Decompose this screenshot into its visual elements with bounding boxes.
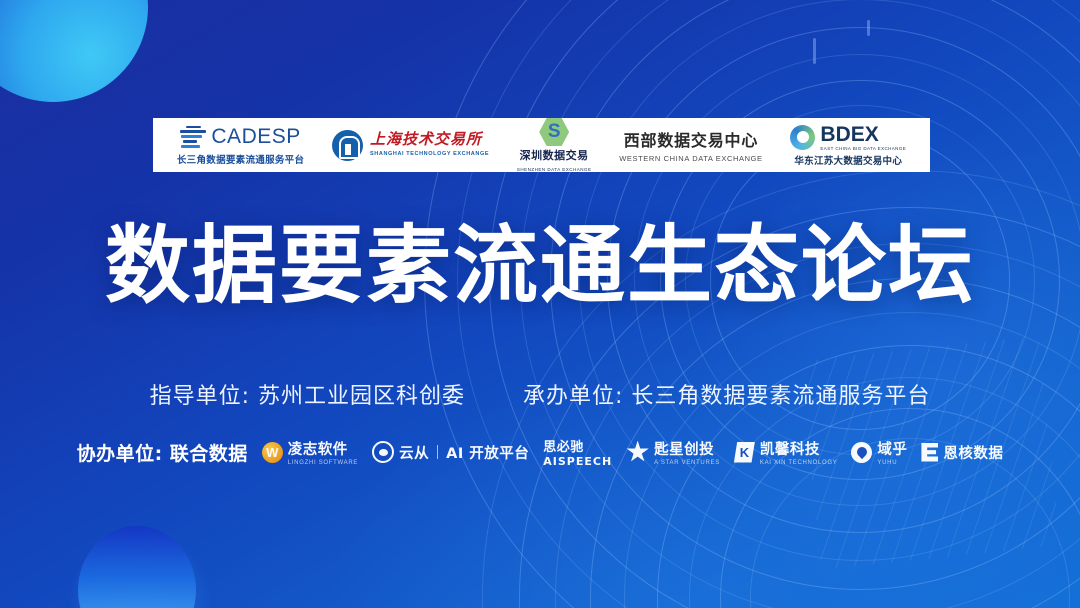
sponsor-yuhu: 域乎 YUHU xyxy=(851,438,907,466)
page-title: 数据要素流通生态论坛 xyxy=(0,224,1080,309)
astar-name: 匙星创投 xyxy=(654,438,714,459)
hosting-organization: 承办单位: 长三角数据要素流通服务平台 xyxy=(523,378,930,410)
cadesp-bars-icon xyxy=(180,126,206,148)
bdex-en-name: EAST CHINA BIG DATA EXCHANGE xyxy=(820,146,906,151)
shanghai-exchange-cn-name: 上海技术交易所 xyxy=(370,133,489,148)
cloudwalk-suffix: AI 开放平台 xyxy=(446,442,529,463)
sponsor-astar: 匙星创投 A STAR VENTURES xyxy=(626,438,720,466)
astar-en: A STAR VENTURES xyxy=(654,460,720,466)
shenzhen-hexagon-s-icon: S xyxy=(539,118,569,145)
logo-bdex: BDEX EAST CHINA BIG DATA EXCHANGE 华东江苏大数… xyxy=(790,118,906,172)
shenzhen-exchange-cn-name: 深圳数据交易 xyxy=(520,147,589,163)
aispeech-name: 思必驰 xyxy=(543,436,584,455)
accent-tick-b xyxy=(867,20,870,36)
bottom-left-circle-glow xyxy=(70,528,210,608)
star-icon xyxy=(626,441,649,464)
partner-logo-bar: CADESP 长三角数据要素流通服务平台 上海技术交易所 SHANGHAI TE… xyxy=(153,118,930,172)
top-left-gradient-circle xyxy=(0,0,148,102)
cloudwalk-name: 云从 xyxy=(399,442,429,463)
bdex-cn-name: 华东江苏大数据交易中心 xyxy=(794,153,902,167)
yuhu-name: 域乎 xyxy=(877,438,907,459)
enhe-e-icon xyxy=(921,443,938,462)
bottom-left-gradient-circle xyxy=(78,526,196,608)
cloudwalk-eye-icon xyxy=(372,441,394,463)
lingzhi-en: LINGZHI SOFTWARE xyxy=(288,460,358,466)
shanghai-exchange-en-name: SHANGHAI TECHNOLOGY EXCHANGE xyxy=(370,151,489,157)
kaixin-name: 凯馨科技 xyxy=(760,438,820,459)
cloudwalk-divider xyxy=(437,445,438,459)
guiding-organization: 指导单位: 苏州工业园区科创委 xyxy=(150,378,465,410)
western-exchange-en-name: WESTERN CHINA DATA EXCHANGE xyxy=(619,154,762,163)
bdex-swirl-icon xyxy=(790,125,815,150)
lingzhi-w-circle-icon: W xyxy=(262,442,283,463)
sponsor-lingzhi: W 凌志软件 LINGZHI SOFTWARE xyxy=(262,438,358,466)
right-glow xyxy=(680,120,1080,608)
co-organizer-label: 协办单位: 联合数据 xyxy=(77,439,248,466)
organizer-row: 指导单位: 苏州工业园区科创委 承办单位: 长三角数据要素流通服务平台 xyxy=(0,378,1080,410)
yuhu-drop-icon xyxy=(851,442,872,463)
sponsor-cloudwalk: 云从 AI 开放平台 xyxy=(372,441,529,463)
forum-poster: CADESP 长三角数据要素流通服务平台 上海技术交易所 SHANGHAI TE… xyxy=(0,0,1080,608)
accent-tick-a xyxy=(813,38,816,64)
sponsor-aispeech: 思必驰 AISPEECH xyxy=(543,436,612,468)
yuhu-en: YUHU xyxy=(877,460,897,466)
cadesp-wordmark: CADESP xyxy=(211,125,300,149)
shenzhen-exchange-en-name: SHENZHEN DATA EXCHANGE xyxy=(517,167,592,172)
logo-shanghai-technology-exchange: 上海技术交易所 SHANGHAI TECHNOLOGY EXCHANGE xyxy=(332,118,489,172)
enhe-name: 恩核数据 xyxy=(943,442,1003,463)
sponsor-kaixin: K 凯馨科技 KAI XIN TECHNOLOGY xyxy=(734,438,838,466)
logo-western-china-data-exchange: 西部数据交易中心 WESTERN CHINA DATA EXCHANGE xyxy=(619,118,762,172)
lingzhi-name: 凌志软件 xyxy=(288,438,348,459)
kaixin-en: KAI XIN TECHNOLOGY xyxy=(760,460,838,466)
co-organizer-row: 协办单位: 联合数据 W 凌志软件 LINGZHI SOFTWARE 云从 AI… xyxy=(0,436,1080,468)
aispeech-en: AISPEECH xyxy=(543,455,612,468)
logo-shenzhen-data-exchange: S 深圳数据交易 SHENZHEN DATA EXCHANGE xyxy=(517,118,592,172)
logo-cadesp: CADESP 长三角数据要素流通服务平台 xyxy=(177,118,304,172)
bdex-wordmark: BDEX xyxy=(820,123,878,147)
cadesp-subtitle: 长三角数据要素流通服务平台 xyxy=(177,152,304,166)
western-exchange-cn-name: 西部数据交易中心 xyxy=(624,127,758,151)
sponsor-enhe: 恩核数据 xyxy=(921,442,1003,463)
shanghai-exchange-badge-icon xyxy=(332,130,363,161)
kaixin-k-icon: K xyxy=(734,442,755,463)
